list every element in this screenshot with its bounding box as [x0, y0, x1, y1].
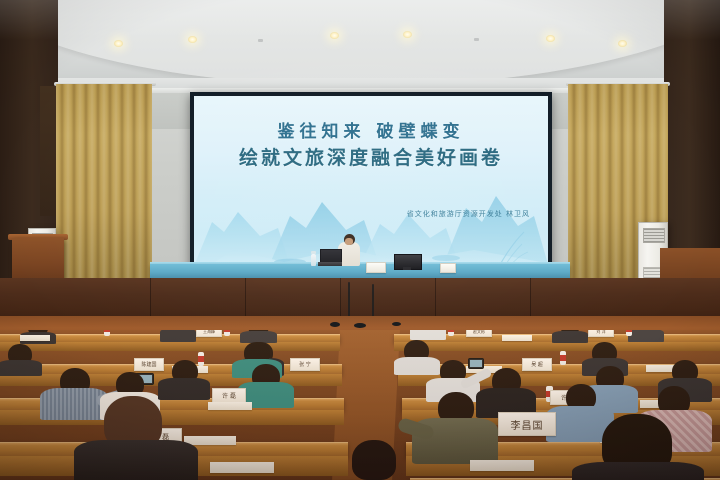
name-card: 王海峰	[196, 330, 222, 337]
cable	[372, 284, 374, 320]
paper-sheet	[20, 335, 50, 341]
name-card: 吴 超	[522, 358, 552, 371]
water-bottle	[224, 330, 230, 336]
name-card-text: 王海峰	[203, 330, 215, 335]
name-card-text: 李昌国	[511, 417, 544, 432]
name-card: 陈建国	[134, 358, 164, 371]
projection-screen-frame: 鉴往知来 破壁蝶变 绘就文旅深度融合美好画卷 省文化和旅游厅资源开发处 林卫风	[190, 92, 552, 282]
ac-vent-grille-icon	[643, 228, 665, 243]
attendee-torso	[0, 360, 42, 376]
downlight-icon	[114, 40, 123, 47]
lecture-hall-photo: 鉴往知来 破壁蝶变 绘就文旅深度融合美好画卷 省文化和旅游厅资源开发处 林卫风	[0, 0, 720, 480]
name-card: 赵文彬	[466, 330, 492, 337]
paper-sheet	[210, 462, 274, 473]
paper-sheet	[184, 436, 236, 445]
name-card-text: 吴 超	[531, 361, 543, 368]
downlight-icon	[188, 36, 197, 43]
water-bottle	[198, 352, 204, 366]
attendee-torso	[74, 440, 198, 480]
attendee-torso	[572, 462, 704, 480]
water-bottle	[104, 330, 110, 336]
attendee-torso	[160, 330, 196, 342]
speaker-face	[345, 238, 353, 245]
downlight-icon	[546, 35, 555, 42]
paper-sheet	[470, 460, 534, 471]
name-card: 张 宁	[290, 358, 320, 371]
slide-title-line2: 绘就文旅深度融合美好画卷	[194, 143, 548, 170]
phone-screen	[470, 360, 482, 367]
name-card-text: 赵文彬	[473, 330, 485, 335]
water-bottle	[448, 330, 454, 336]
name-card: 许 磊	[212, 388, 246, 403]
water-bottle	[560, 351, 566, 365]
name-card-text: 张 宁	[299, 361, 311, 368]
cable	[348, 282, 350, 320]
name-card-text: 陈建国	[141, 361, 156, 368]
audience-seating: 王海峰 赵文彬 刘 洋 陈建国 张 宁	[0, 330, 720, 480]
projection-screen: 鉴往知来 破壁蝶变 绘就文旅深度融合美好画卷 省文化和旅游厅资源开发处 林卫风	[194, 96, 548, 278]
attendee-torso	[394, 357, 440, 375]
microphone-icon	[330, 322, 340, 327]
slide-presenter-line: 省文化和旅游厅资源开发处 林卫风	[407, 209, 530, 219]
desk-row-front	[394, 342, 720, 351]
ceiling-vent-icon	[258, 39, 263, 42]
attendee-torso	[410, 330, 446, 340]
downlight-icon	[403, 31, 412, 38]
name-card-text: 刘 洋	[596, 330, 605, 335]
microphone-icon	[392, 322, 401, 326]
stage-name-card	[440, 263, 456, 273]
water-bottle	[311, 254, 316, 266]
slide-title-line1: 鉴往知来 破壁蝶变	[194, 117, 548, 142]
smartphone	[468, 358, 484, 369]
name-card-li-chang-guo: 李昌国	[498, 412, 556, 436]
paper-sheet	[502, 335, 532, 341]
paper-sheet	[208, 402, 252, 410]
name-card: 刘 洋	[588, 330, 614, 337]
stage-name-card	[366, 262, 386, 273]
monitor-stand	[403, 267, 411, 270]
downlight-icon	[618, 40, 627, 47]
water-bottle	[626, 330, 632, 336]
attendee-torso	[552, 331, 588, 343]
downlight-icon	[330, 32, 339, 39]
attendee-head	[352, 440, 396, 480]
microphone-icon	[354, 323, 366, 328]
attendee-torso	[628, 330, 664, 342]
ceiling-vent-icon	[474, 38, 479, 41]
name-card-text: 许 磊	[222, 391, 236, 400]
laptop-keyboard	[318, 262, 342, 266]
attendee-torso	[158, 378, 210, 400]
